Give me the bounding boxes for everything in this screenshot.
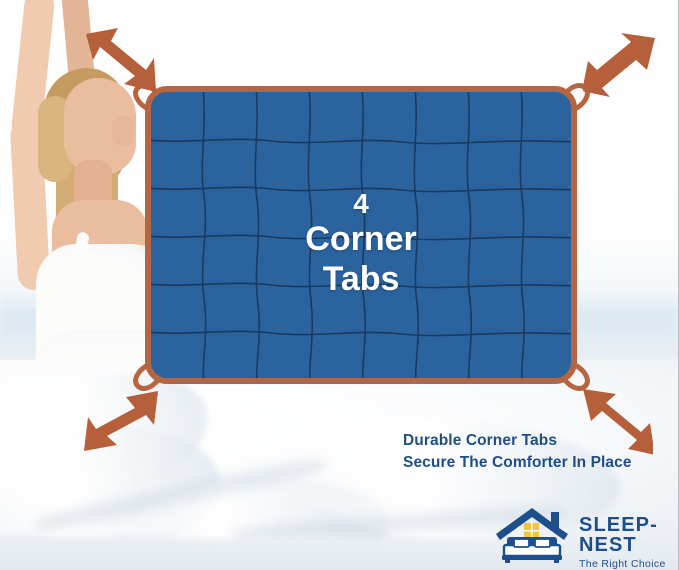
blue-quilted-comforter: 4 Corner Tabs <box>145 86 577 384</box>
caption-line-1: Durable Corner Tabs <box>403 430 632 452</box>
caption-line-2: Secure The Comforter In Place <box>403 452 632 474</box>
arrow-top-left <box>84 22 160 98</box>
product-caption: Durable Corner Tabs Secure The Comforter… <box>403 430 632 474</box>
arrow-bottom-left <box>82 389 160 459</box>
arrow-top-right <box>583 25 657 99</box>
brand-name: SLEEP-NEST <box>579 515 675 555</box>
house-with-bed-icon <box>493 505 575 563</box>
brand-wordmark: SLEEP-NEST The Right Choice For You <box>579 515 675 570</box>
quilt-stitch-grid <box>151 92 571 378</box>
brand-tagline: The Right Choice For You <box>579 559 675 570</box>
brand-logo: SLEEP-NEST The Right Choice For You <box>493 505 675 565</box>
product-image: 4 Corner Tabs Durable Corner Tabs Secure… <box>0 0 679 570</box>
